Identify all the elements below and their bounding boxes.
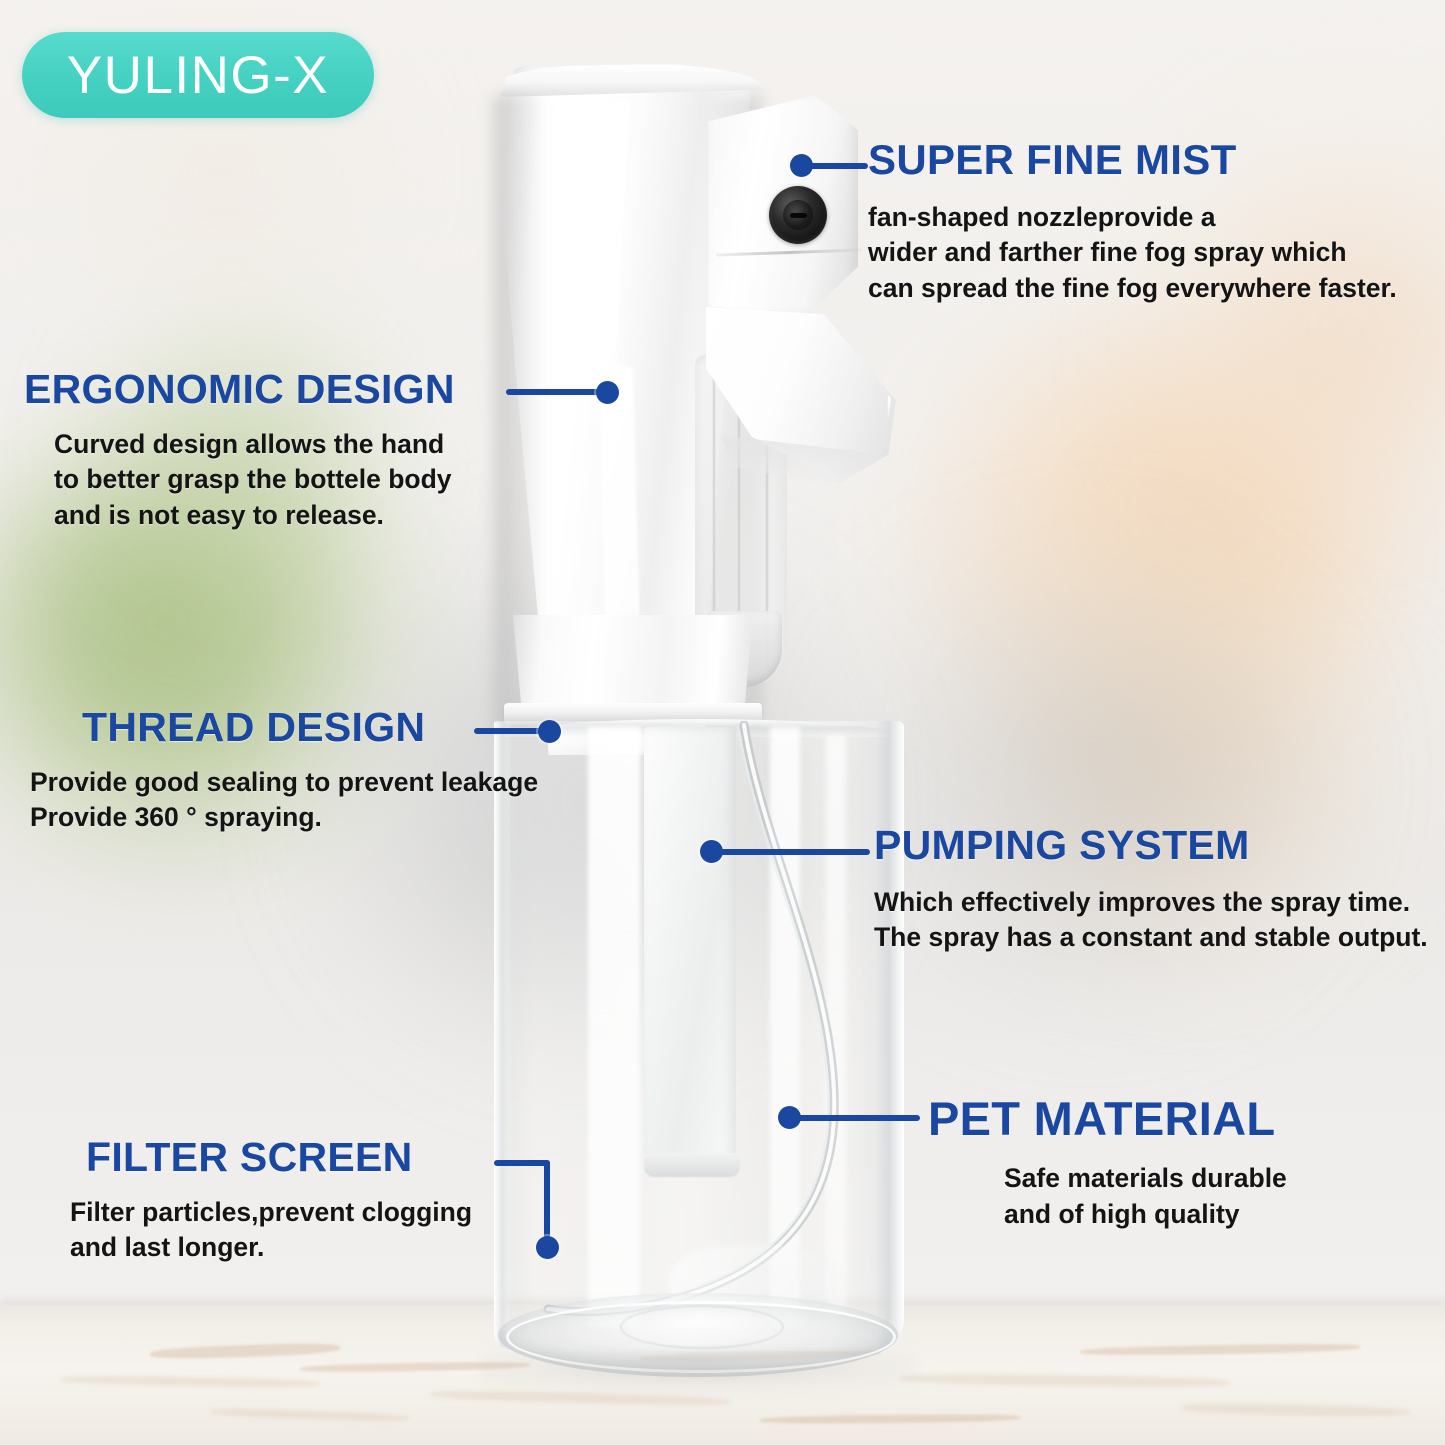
inner-pump-tube	[644, 727, 736, 1163]
callout-body-line: and last longer.	[70, 1230, 472, 1265]
callout-pet-material: PET MATERIAL Safe materials durable and …	[928, 1094, 1287, 1232]
callout-body-line: wider and farther fine fog spray which	[868, 235, 1397, 270]
callout-thread-design: THREAD DESIGN Provide good sealing to pr…	[30, 706, 538, 836]
callout-body-line: can spread the fine fog everywhere faste…	[868, 271, 1397, 306]
inner-pump-tube-base	[644, 1153, 740, 1177]
bottle-base-swirl	[620, 1305, 784, 1349]
bottle-highlight	[588, 727, 640, 1327]
callout-body-line: Curved design allows the hand	[54, 427, 455, 462]
nozzle-slit	[790, 213, 807, 218]
callout-body-line: Filter particles,prevent clogging	[70, 1195, 472, 1230]
callout-body: Which effectively improves the spray tim…	[874, 885, 1428, 955]
callout-body: Filter particles,prevent clogging and la…	[70, 1195, 472, 1265]
product-infographic: YULING-X	[0, 0, 1445, 1445]
brand-name: YULING-X	[67, 49, 329, 102]
callout-heading: PET MATERIAL	[928, 1094, 1287, 1143]
callout-heading: ERGONOMIC DESIGN	[24, 368, 455, 411]
callout-body: Curved design allows the hand to better …	[54, 427, 455, 533]
callout-heading: FILTER SCREEN	[86, 1136, 472, 1179]
callout-body: Safe materials durable and of high quali…	[1004, 1161, 1287, 1231]
bottle-highlight	[770, 727, 800, 1327]
callout-body-line: Which effectively improves the spray tim…	[874, 885, 1428, 920]
callout-heading: PUMPING SYSTEM	[874, 824, 1428, 867]
callout-filter-screen: FILTER SCREEN Filter particles,prevent c…	[86, 1136, 472, 1266]
callout-heading: SUPER FINE MIST	[868, 138, 1397, 182]
callout-body-line: and is not easy to release.	[54, 498, 455, 533]
callout-body-line: Provide 360 ° spraying.	[30, 800, 538, 835]
bottle-wall-right	[874, 721, 904, 1349]
callout-body-line: to better grasp the bottele body	[54, 462, 455, 497]
callout-body-line: Provide good sealing to prevent leakage	[30, 765, 538, 800]
callout-pumping-system: PUMPING SYSTEM Which effectively improve…	[874, 824, 1428, 956]
callout-body: Provide good sealing to prevent leakage …	[30, 765, 538, 835]
callout-ergonomic-design: ERGONOMIC DESIGN Curved design allows th…	[24, 368, 455, 533]
bottle-highlight	[826, 735, 846, 1315]
callout-super-fine-mist: SUPER FINE MIST fan-shaped nozzleprovide…	[868, 138, 1397, 306]
callout-body: fan-shaped nozzleprovide a wider and far…	[868, 200, 1397, 306]
callout-body-line: Safe materials durable	[1004, 1161, 1287, 1196]
callout-body-line: The spray has a constant and stable outp…	[874, 920, 1428, 955]
brand-badge: YULING-X	[22, 32, 374, 118]
bottle-drop-shadow	[480, 1355, 916, 1389]
callout-body-line: and of high quality	[1004, 1197, 1287, 1232]
callout-body-line: fan-shaped nozzleprovide a	[868, 200, 1397, 235]
callout-heading: THREAD DESIGN	[82, 706, 538, 749]
